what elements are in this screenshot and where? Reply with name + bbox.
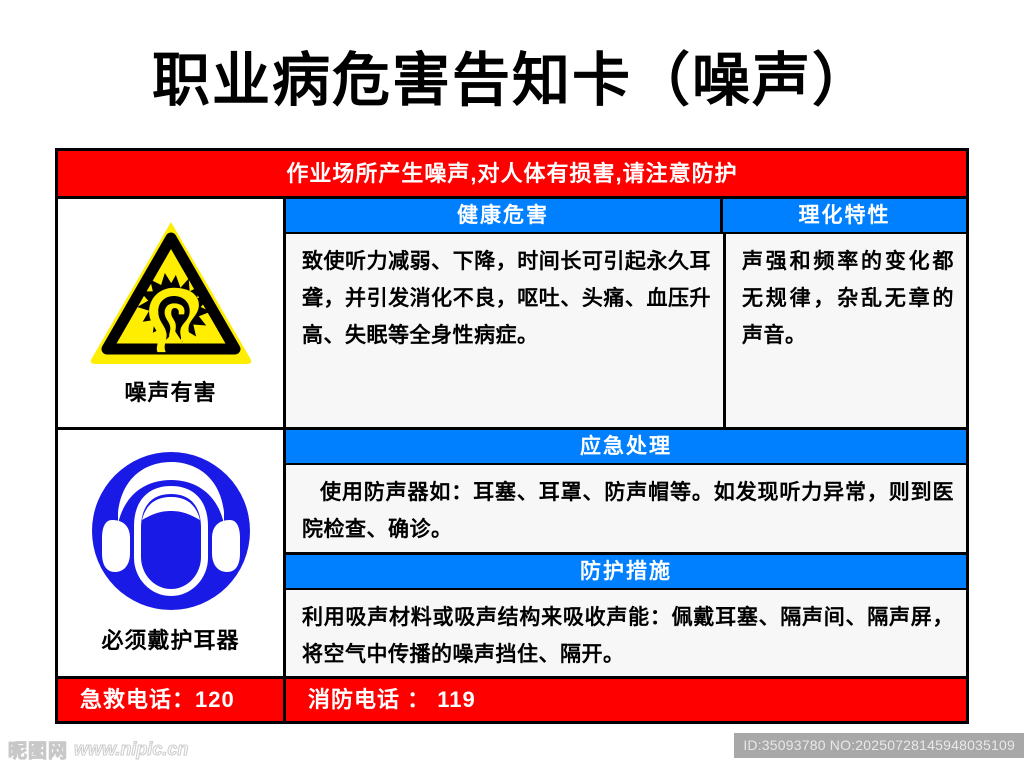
hazard-bodies: 致使听力减弱、下降，时间长可引起永久耳聋，并引发消化不良，呕吐、头痛、血压升高、… — [286, 234, 966, 427]
image-id-badge: ID:35093780 NO:20250728145948035109 — [734, 733, 1024, 758]
noise-hazard-pictogram-cell: 噪声有害 — [58, 199, 286, 427]
physchem-text: 声强和频率的变化都无规律，杂乱无章的声音。 — [723, 234, 966, 427]
section-header-emergency: 应急处理 — [286, 430, 966, 465]
row-protection: 必须戴护耳器 应急处理 使用防声器如：耳塞、耳罩、防声帽等。如发现听力异常，则到… — [58, 427, 966, 676]
warning-banner: 作业场所产生噪声,对人体有损害,请注意防护 — [58, 151, 966, 199]
watermark-site-name: 昵图网 — [8, 736, 68, 763]
measures-text: 利用吸声材料或吸声结构来吸收声能：佩戴耳塞、隔声间、隔声屏，将空气中传播的噪声挡… — [286, 590, 966, 677]
hazard-headers: 健康危害 理化特性 — [286, 199, 966, 234]
noise-hazard-triangle-icon — [88, 218, 254, 369]
health-hazard-text: 致使听力减弱、下降，时间长可引起永久耳聋，并引发消化不良，呕吐、头痛、血压升高、… — [286, 234, 723, 427]
protection-content: 应急处理 使用防声器如：耳塞、耳罩、防声帽等。如发现听力异常，则到医院检查、确诊… — [286, 430, 966, 676]
health-hazard-content: 健康危害 理化特性 致使听力减弱、下降，时间长可引起永久耳聋，并引发消化不良，呕… — [286, 199, 966, 427]
ear-protection-pictogram-cell: 必须戴护耳器 — [58, 430, 286, 676]
section-header-physchem: 理化特性 — [720, 199, 966, 234]
section-header-measures: 防护措施 — [286, 552, 966, 590]
emergency-phones-bar: 急救电话：120 消防电话 ： 119 — [58, 676, 966, 721]
row-health-hazard: 噪声有害 健康危害 理化特性 致使听力减弱、下降，时间长可引起永久耳聋，并引发消… — [58, 199, 966, 427]
fire-phone: 消防电话 ： 119 — [286, 679, 966, 721]
site-watermark: 昵图网 www.nipic.cn — [8, 736, 188, 763]
emergency-phone: 急救电话：120 — [58, 679, 286, 721]
card-body-grid: 噪声有害 健康危害 理化特性 致使听力减弱、下降，时间长可引起永久耳聋，并引发消… — [58, 199, 966, 676]
page-title: 职业病危害告知卡（噪声） — [0, 44, 1024, 116]
wear-ear-protection-icon — [90, 450, 252, 617]
section-header-health-hazard: 健康危害 — [286, 199, 720, 234]
noise-hazard-caption: 噪声有害 — [124, 375, 216, 407]
emergency-text: 使用防声器如：耳塞、耳罩、防声帽等。如发现听力异常，则到医院检查、确诊。 — [286, 465, 966, 552]
watermark-site-url: www.nipic.cn — [74, 739, 188, 760]
hazard-notice-card: 作业场所产生噪声,对人体有损害,请注意防护 — [55, 148, 969, 724]
ear-protection-caption: 必须戴护耳器 — [101, 623, 239, 655]
